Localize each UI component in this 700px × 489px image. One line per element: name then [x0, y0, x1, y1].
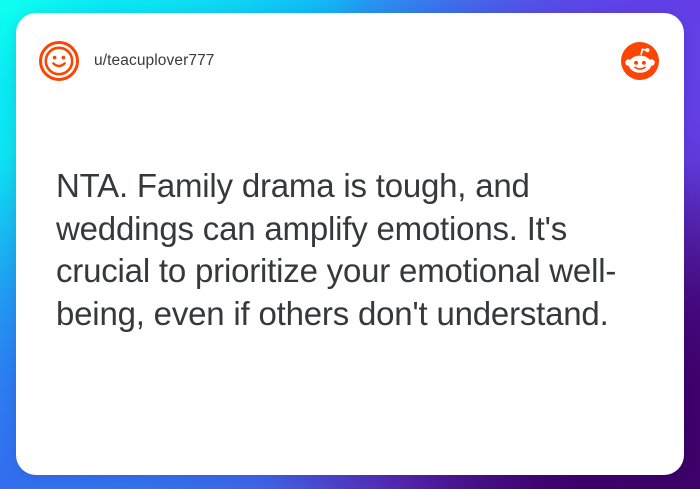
card-header: u/teacuplover777 [16, 13, 684, 109]
username-label: u/teacuplover777 [94, 52, 215, 70]
reddit-comment-card: u/teacuplover777 [16, 13, 684, 475]
comment-body-text: NTA. Family drama is tough, and weddings… [56, 165, 632, 335]
screenshot-root: u/teacuplover777 [0, 0, 700, 489]
reddit-snoo-logo-icon[interactable] [620, 41, 660, 81]
smiley-face-avatar-icon[interactable] [38, 40, 80, 82]
